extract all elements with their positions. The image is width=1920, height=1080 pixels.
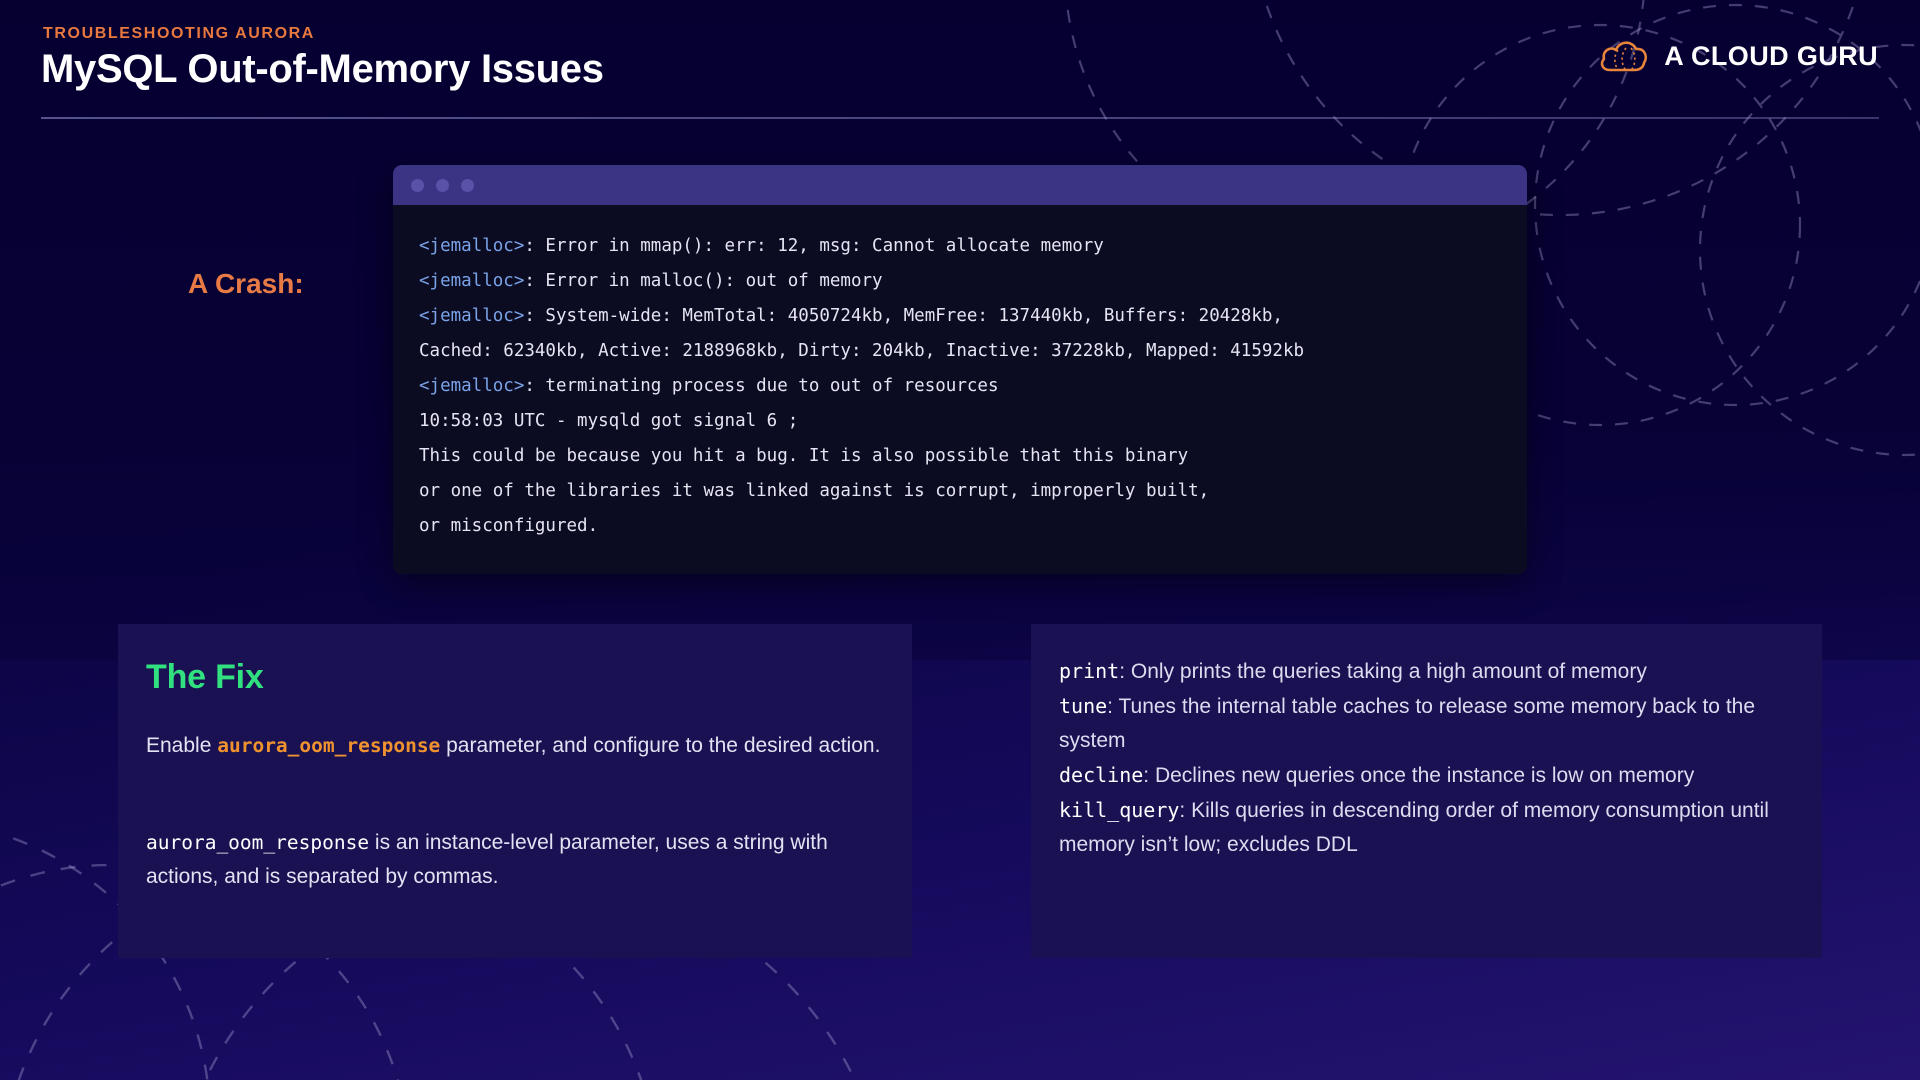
terminal-token-tag: <jemalloc> bbox=[419, 376, 524, 396]
breadcrumb-eyebrow: TROUBLESHOOTING AURORA bbox=[43, 25, 315, 43]
terminal-token-text: : System-wide: MemTotal: 4050724kb, MemF… bbox=[524, 306, 1283, 326]
terminal-token-text: 10:58:03 UTC - mysqld got signal 6 ; bbox=[419, 411, 798, 431]
terminal-token-tag: <jemalloc> bbox=[419, 306, 524, 326]
fix-paragraph-2: aurora_oom_response is an instance-level… bbox=[146, 826, 882, 894]
terminal-line: 10:58:03 UTC - mysqld got signal 6 ; bbox=[419, 404, 1501, 439]
action-item: decline: Declines new queries once the i… bbox=[1059, 758, 1800, 793]
action-item: print: Only prints the queries taking a … bbox=[1059, 654, 1800, 689]
page-title: MySQL Out-of-Memory Issues bbox=[41, 47, 604, 92]
fix-p1-post: parameter, and configure to the desired … bbox=[440, 734, 880, 757]
terminal-token-text: Cached: 62340kb, Active: 2188968kb, Dirt… bbox=[419, 341, 1304, 361]
cloud-icon bbox=[1598, 36, 1650, 76]
brand-name: A CLOUD GURU bbox=[1664, 41, 1878, 72]
action-item-key: decline bbox=[1059, 763, 1143, 787]
action-item-key: kill_query bbox=[1059, 798, 1179, 822]
fix-panel-title: The Fix bbox=[146, 658, 882, 697]
window-dot-close-icon[interactable] bbox=[411, 179, 424, 192]
fix-paragraph-1: Enable aurora_oom_response parameter, an… bbox=[146, 729, 882, 763]
terminal-line: <jemalloc>: terminating process due to o… bbox=[419, 369, 1501, 404]
terminal-line: <jemalloc>: Error in malloc(): out of me… bbox=[419, 264, 1501, 299]
action-item-description: : Only prints the queries taking a high … bbox=[1119, 660, 1647, 683]
action-item: kill_query: Kills queries in descending … bbox=[1059, 793, 1800, 862]
header-divider bbox=[41, 117, 1879, 119]
terminal-token-text: : Error in malloc(): out of memory bbox=[524, 271, 882, 291]
terminal-line: or misconfigured. bbox=[419, 509, 1501, 544]
terminal-title-bar bbox=[393, 165, 1527, 205]
action-item-description: : Declines new queries once the instance… bbox=[1143, 764, 1694, 787]
terminal-line: This could be because you hit a bug. It … bbox=[419, 439, 1501, 474]
terminal-output: <jemalloc>: Error in mmap(): err: 12, ms… bbox=[393, 205, 1527, 574]
crash-label: A Crash: bbox=[188, 268, 304, 300]
fix-p1-pre: Enable bbox=[146, 734, 217, 757]
terminal-token-text: : terminating process due to out of reso… bbox=[524, 376, 998, 396]
actions-panel: print: Only prints the queries taking a … bbox=[1031, 624, 1822, 958]
page-header: TROUBLESHOOTING AURORA MySQL Out-of-Memo… bbox=[0, 0, 1920, 120]
fix-p2-code: aurora_oom_response bbox=[146, 831, 369, 854]
action-item-description: : Tunes the internal table caches to rel… bbox=[1059, 695, 1755, 752]
fix-p1-code: aurora_oom_response bbox=[217, 734, 440, 757]
actions-list: print: Only prints the queries taking a … bbox=[1059, 654, 1800, 862]
window-dot-maximize-icon[interactable] bbox=[461, 179, 474, 192]
action-item-key: print bbox=[1059, 659, 1119, 683]
terminal-window: <jemalloc>: Error in mmap(): err: 12, ms… bbox=[393, 165, 1527, 574]
terminal-line: <jemalloc>: System-wide: MemTotal: 40507… bbox=[419, 299, 1501, 334]
terminal-line: Cached: 62340kb, Active: 2188968kb, Dirt… bbox=[419, 334, 1501, 369]
terminal-line: <jemalloc>: Error in mmap(): err: 12, ms… bbox=[419, 229, 1501, 264]
terminal-token-text: This could be because you hit a bug. It … bbox=[419, 446, 1188, 466]
terminal-token-tag: <jemalloc> bbox=[419, 271, 524, 291]
window-dot-minimize-icon[interactable] bbox=[436, 179, 449, 192]
terminal-token-text: : Error in mmap(): err: 12, msg: Cannot … bbox=[524, 236, 1103, 256]
fix-panel: The Fix Enable aurora_oom_response param… bbox=[118, 624, 912, 958]
terminal-token-text: or one of the libraries it was linked ag… bbox=[419, 481, 1209, 501]
action-item-key: tune bbox=[1059, 694, 1107, 718]
terminal-token-text: or misconfigured. bbox=[419, 516, 598, 536]
terminal-line: or one of the libraries it was linked ag… bbox=[419, 474, 1501, 509]
terminal-token-tag: <jemalloc> bbox=[419, 236, 524, 256]
brand-logo: A CLOUD GURU bbox=[1598, 36, 1878, 76]
action-item: tune: Tunes the internal table caches to… bbox=[1059, 689, 1800, 758]
